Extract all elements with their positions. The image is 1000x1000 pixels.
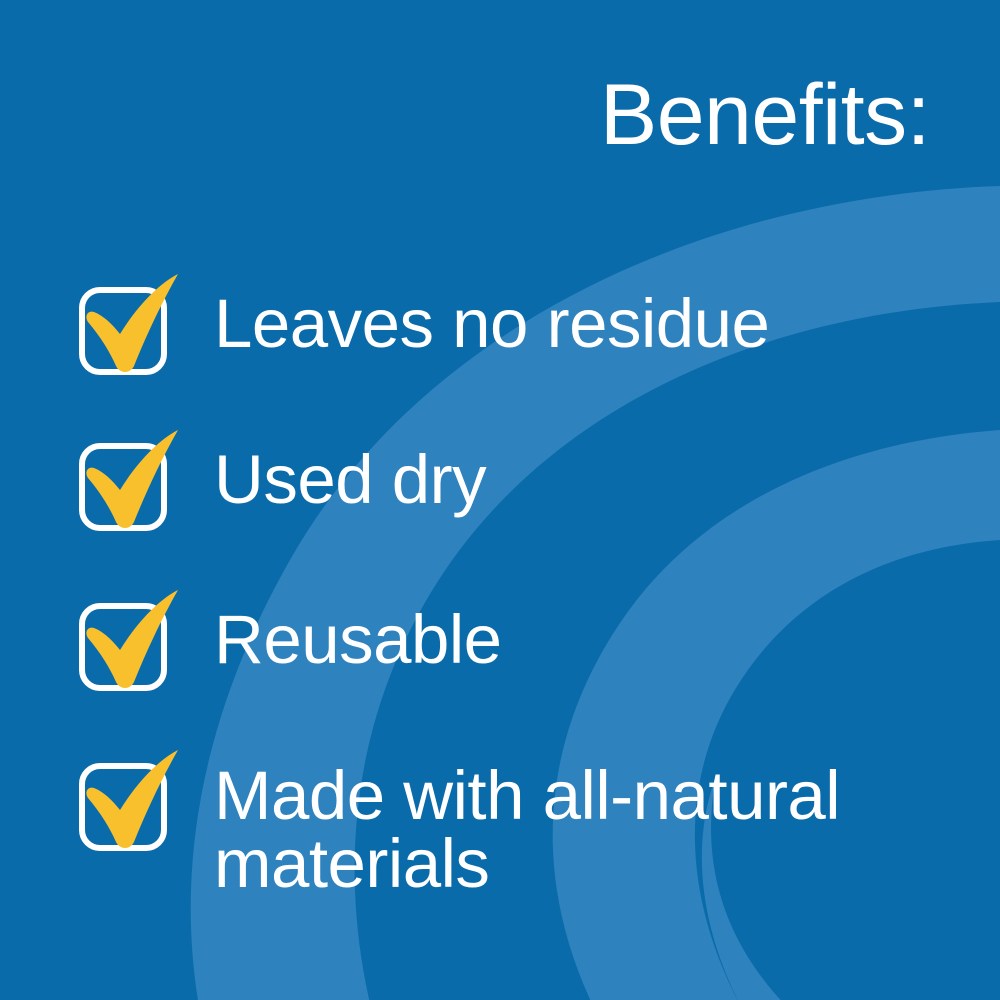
benefits-graphic: Benefits: Leaves no residue Used dry	[0, 0, 1000, 1000]
checked-checkbox-icon	[78, 750, 178, 854]
checked-checkbox-icon	[78, 590, 178, 694]
benefit-item: Used dry	[78, 428, 486, 534]
benefit-label: Made with all-natural materials	[214, 762, 840, 897]
benefit-label: Leaves no residue	[214, 290, 769, 358]
checked-checkbox-icon	[78, 430, 178, 534]
benefit-item: Reusable	[78, 588, 502, 694]
checked-checkbox-icon	[78, 274, 178, 378]
benefit-label: Reusable	[214, 606, 502, 674]
benefits-list: Leaves no residue Used dry Reusable	[0, 0, 1000, 1000]
benefit-item: Made with all-natural materials	[78, 748, 840, 897]
benefit-item: Leaves no residue	[78, 272, 769, 378]
benefit-label: Used dry	[214, 446, 486, 514]
